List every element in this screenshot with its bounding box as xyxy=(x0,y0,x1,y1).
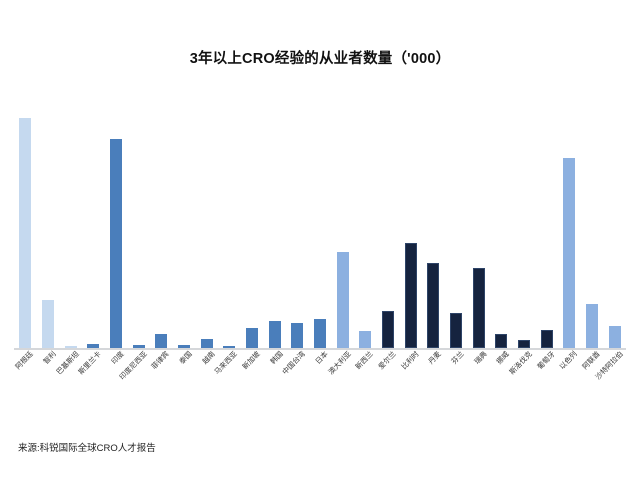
x-axis-tick-label: 智利 xyxy=(42,350,58,366)
x-axis-tick-label: 比利时 xyxy=(400,350,421,371)
bar xyxy=(405,243,417,348)
x-axis-tick-label: 爱尔兰 xyxy=(377,350,398,371)
bar xyxy=(359,331,371,348)
bar xyxy=(201,339,213,348)
bar xyxy=(450,313,462,348)
bar xyxy=(110,139,122,348)
x-axis-tick-label: 澳大利亚 xyxy=(327,350,353,376)
x-axis-tick-label: 菲律宾 xyxy=(150,350,171,371)
x-axis-tick-label: 新加坡 xyxy=(241,350,262,371)
bar xyxy=(586,304,598,348)
bar xyxy=(246,328,258,348)
x-axis-tick-label: 挪威 xyxy=(495,350,511,366)
x-axis-tick-label: 马来西亚 xyxy=(213,350,239,376)
x-axis-tick-label: 以色列 xyxy=(558,350,579,371)
x-axis-tick-label: 瑞典 xyxy=(473,350,489,366)
plot-area xyxy=(14,100,626,348)
x-axis-tick-labels: 阿根廷智利巴基斯坦斯里兰卡印度印度尼西亚菲律宾泰国越南马来西亚新加坡韩国中国台湾… xyxy=(14,350,626,420)
bar xyxy=(269,321,281,348)
bars-layer xyxy=(14,100,626,348)
bar xyxy=(291,323,303,348)
bar xyxy=(609,326,621,348)
x-axis-tick-label: 芬兰 xyxy=(450,350,466,366)
x-axis-tick-label: 阿根廷 xyxy=(14,350,35,371)
bar xyxy=(155,334,167,348)
x-axis-tick-label: 斯洛伐克 xyxy=(508,350,534,376)
bar xyxy=(337,252,349,348)
x-axis-tick-label: 韩国 xyxy=(269,350,285,366)
bar xyxy=(518,340,530,348)
x-axis-tick-label: 巴基斯坦 xyxy=(55,350,81,376)
x-axis-tick-label: 中国台湾 xyxy=(281,350,307,376)
x-axis-tick-label: 泰国 xyxy=(178,350,194,366)
bar-chart: 3年以上CRO经验的从业者数量（'000） 阿根廷智利巴基斯坦斯里兰卡印度印度尼… xyxy=(0,0,640,481)
bar xyxy=(382,311,394,348)
bar xyxy=(495,334,507,348)
bar xyxy=(541,330,553,348)
chart-title: 3年以上CRO经验的从业者数量（'000） xyxy=(0,47,640,68)
bar xyxy=(19,118,31,348)
x-axis-tick-label: 印度 xyxy=(110,350,126,366)
x-axis-tick-label: 越南 xyxy=(201,350,217,366)
bar xyxy=(427,263,439,348)
x-axis-tick-label: 丹麦 xyxy=(427,350,443,366)
x-axis-tick-label: 葡萄牙 xyxy=(536,350,557,371)
x-axis-tick-label: 新西兰 xyxy=(354,350,375,371)
x-axis-tick-label: 斯里兰卡 xyxy=(77,350,103,376)
bar xyxy=(42,300,54,348)
source-note: 来源:科锐国际全球CRO人才报告 xyxy=(18,440,156,454)
x-axis-tick-label: 日本 xyxy=(314,350,330,366)
bar xyxy=(473,268,485,348)
bar xyxy=(314,319,326,348)
bar xyxy=(563,158,575,348)
